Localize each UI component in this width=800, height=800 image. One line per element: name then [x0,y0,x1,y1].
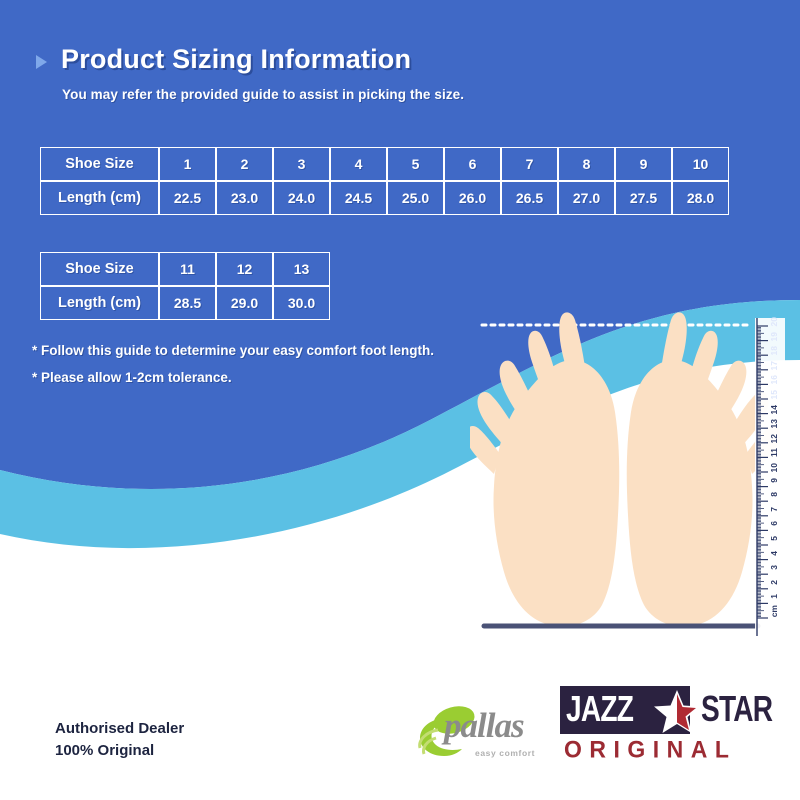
shoe-size-cell: 3 [273,147,330,181]
table-row: Shoe Size111213 [40,252,330,286]
ruler-tick-label: 11 [770,448,779,457]
ruler-tick-label: 17 [770,361,779,370]
length-cell: 26.5 [501,181,558,215]
jazz-wordmark: JAZZ [566,688,633,730]
ruler-tick-label: 15 [770,390,779,399]
ruler-tick-label: 20 [770,317,779,326]
dealer-line-2: 100% Original [55,740,184,762]
ruler-tick-label: 6 [770,521,779,526]
jazz-star-logo: JAZZ STAR ORIGINAL [560,686,760,766]
shoe-size-cell: 6 [444,147,501,181]
shoe-size-cell: 2 [216,147,273,181]
length-cell: 23.0 [216,181,273,215]
ruler-ticks [757,326,768,618]
note-item: * Please allow 1-2cm tolerance. [32,370,502,385]
ruler-tick-label: 3 [770,565,779,570]
page-title: Product Sizing Information [61,44,411,75]
shoe-size-cell: 9 [615,147,672,181]
shoe-size-cell: 5 [387,147,444,181]
length-cell: 25.0 [387,181,444,215]
table-row: Length (cm)28.529.030.0 [40,286,330,320]
ruler-tick-label: 12 [770,434,779,443]
ruler-tick-label: 8 [770,492,779,497]
ruler-tick-label: 2 [770,580,779,585]
shoe-size-cell: 4 [330,147,387,181]
row-header: Shoe Size [40,147,159,181]
left-foot [470,312,619,626]
ruler-tick-label: 19 [770,332,779,341]
note-item: * Follow this guide to determine your ea… [32,343,502,358]
ruler-tick-label: 14 [770,405,779,414]
length-cell: 24.5 [330,181,387,215]
original-subtitle: ORIGINAL [564,735,736,764]
length-cell: 27.5 [615,181,672,215]
ruler-tick-label: 9 [770,478,779,483]
length-cell: 30.0 [273,286,330,320]
shoe-size-cell: 8 [558,147,615,181]
notes-list: * Follow this guide to determine your ea… [32,343,502,397]
pallas-tagline: easy comfort [475,748,535,758]
size-table-11-to-13: Shoe Size111213Length (cm)28.529.030.0 [40,252,330,320]
ruler-tick-label: 10 [770,463,779,472]
ruler-tick-label: 7 [770,507,779,512]
page-subtitle: You may refer the provided guide to assi… [62,87,800,102]
table-row: Length (cm)22.523.024.024.525.026.026.52… [40,181,729,215]
size-table-1-to-10: Shoe Size12345678910Length (cm)22.523.02… [40,147,729,215]
shoe-size-cell: 12 [216,252,273,286]
shoe-size-cell: 11 [159,252,216,286]
shoe-size-cell: 7 [501,147,558,181]
length-cell: 22.5 [159,181,216,215]
ruler-tick-label: 18 [770,346,779,355]
length-cell: 27.0 [558,181,615,215]
sizing-information-card: Product Sizing Information You may refer… [0,0,800,800]
ruler-tick-label: 5 [770,536,779,541]
title-row: Product Sizing Information [0,44,800,75]
shoe-size-cell: 10 [672,147,729,181]
ruler-tick-label: 13 [770,419,779,428]
row-header: Length (cm) [40,286,159,320]
ruler-unit-label: cm [770,605,779,617]
authorised-dealer-text: Authorised Dealer 100% Original [55,718,184,762]
length-cell: 24.0 [273,181,330,215]
shoe-size-cell: 13 [273,252,330,286]
row-header: Length (cm) [40,181,159,215]
ruler-tick-label: 16 [770,375,779,384]
ruler-tick-label: 1 [770,594,779,599]
star-wordmark: STAR [701,688,772,730]
dealer-line-1: Authorised Dealer [55,718,184,740]
bare-feet-illustration [470,300,800,645]
triangle-right-icon [36,55,47,69]
ruler-scale: cm1234567891011121314151617181920 [755,318,785,636]
header: Product Sizing Information You may refer… [0,44,800,102]
length-cell: 29.0 [216,286,273,320]
length-cell: 28.5 [159,286,216,320]
pallas-wordmark: pallas [444,706,524,746]
length-cell: 28.0 [672,181,729,215]
shoe-size-cell: 1 [159,147,216,181]
row-header: Shoe Size [40,252,159,286]
length-cell: 26.0 [444,181,501,215]
table-row: Shoe Size12345678910 [40,147,729,181]
star-icon [653,690,701,734]
ruler-tick-label: 4 [770,551,779,556]
